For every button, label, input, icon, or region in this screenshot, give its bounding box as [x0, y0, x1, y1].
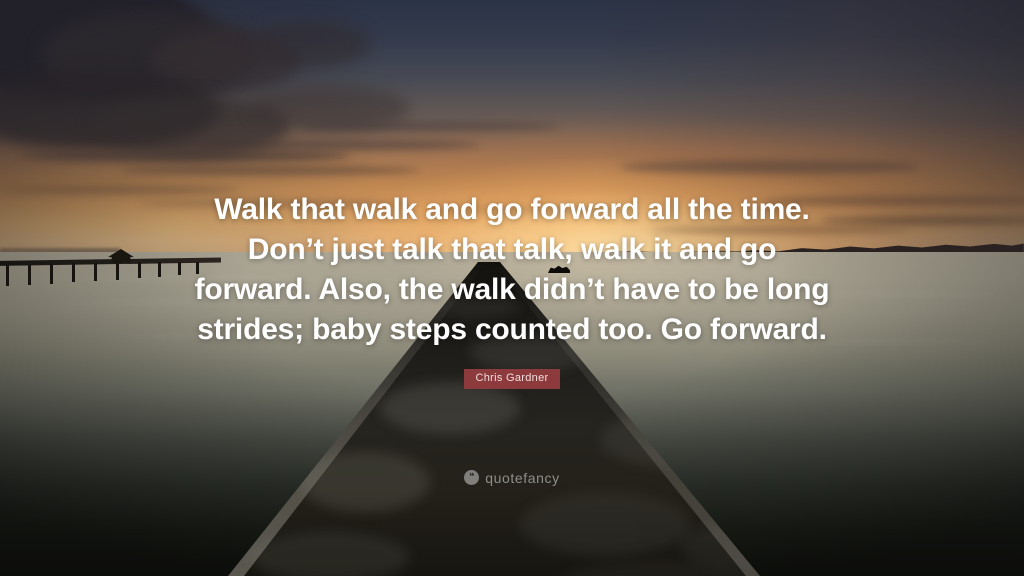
watermark-inner[interactable]: ❝ quotefancy	[464, 470, 560, 486]
cloud-streak-2	[120, 166, 420, 175]
author-attribution: Chris Gardner	[0, 368, 1024, 389]
cloud-streak-1	[20, 150, 350, 162]
pier-blotch	[520, 492, 690, 556]
pier-blotch	[380, 382, 520, 434]
pier-blotch	[250, 532, 410, 576]
quote-line-4: strides; baby steps counted too. Go forw…	[0, 310, 1024, 350]
cloud-streak-4	[300, 122, 560, 131]
watermark-brand-text: quotefancy	[485, 470, 560, 486]
quote-line-3: forward. Also, the walk didn’t have to b…	[0, 270, 1024, 310]
quote-line-1: Walk that walk and go forward all the ti…	[0, 190, 1024, 230]
author-name-badge[interactable]: Chris Gardner	[464, 369, 561, 389]
cloud-streak-3	[200, 140, 480, 150]
quote-text-block: Walk that walk and go forward all the ti…	[0, 190, 1024, 350]
cloud-streak-7	[620, 160, 920, 174]
quote-mark-icon: ❝	[464, 470, 479, 485]
quote-poster: Walk that walk and go forward all the ti…	[0, 0, 1024, 576]
watermark: ❝ quotefancy	[0, 466, 1024, 486]
quote-line-2: Don’t just talk that talk, walk it and g…	[0, 230, 1024, 270]
cloud-puff-b	[250, 20, 370, 68]
